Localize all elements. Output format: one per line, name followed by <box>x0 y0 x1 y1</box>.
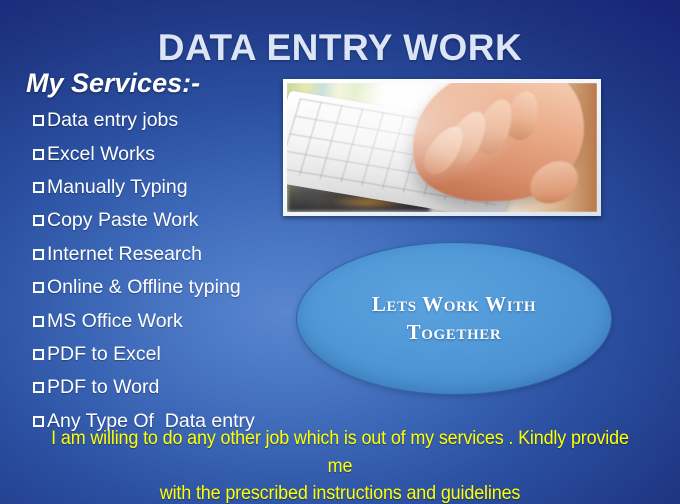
checkbox-square-icon <box>33 182 44 193</box>
services-heading: My Services:- <box>26 68 200 99</box>
checkbox-square-icon <box>33 316 44 327</box>
footer-line-2: with the prescribed instructions and gui… <box>40 480 640 504</box>
checkbox-square-icon <box>33 382 44 393</box>
callout-text: Lets Work With Together <box>332 291 577 346</box>
footer-note: I am willing to do any other job which i… <box>40 425 640 504</box>
keyboard-photo-frame <box>283 79 601 216</box>
list-item-label: Online & Offline typing <box>47 276 241 299</box>
data-entry-work-poster: DATA ENTRY WORK My Services:- Data entry… <box>0 0 680 504</box>
list-item: MS Office Work <box>33 304 301 337</box>
list-item: PDF to Excel <box>33 338 301 371</box>
list-item-label: PDF to Excel <box>47 343 161 366</box>
list-item-label: MS Office Work <box>47 310 183 333</box>
page-title: DATA ENTRY WORK <box>0 27 680 69</box>
checkbox-square-icon <box>33 249 44 260</box>
keyboard-photo <box>287 83 597 212</box>
footer-line-1: I am willing to do any other job which i… <box>40 425 640 480</box>
list-item-label: PDF to Word <box>47 376 159 399</box>
list-item: Copy Paste Work <box>33 204 301 237</box>
list-item-label: Excel Works <box>47 143 155 166</box>
list-item-label: Manually Typing <box>47 176 188 199</box>
list-item: Data entry jobs <box>33 104 301 137</box>
list-item: Manually Typing <box>33 171 301 204</box>
checkbox-square-icon <box>33 349 44 360</box>
list-item: Online & Offline typing <box>33 271 301 304</box>
checkbox-square-icon <box>33 149 44 160</box>
services-list: Data entry jobs Excel Works Manually Typ… <box>33 104 301 438</box>
checkbox-square-icon <box>33 215 44 226</box>
list-item-label: Data entry jobs <box>47 109 178 132</box>
list-item-label: Internet Research <box>47 243 202 266</box>
checkbox-square-icon <box>33 282 44 293</box>
list-item-label: Copy Paste Work <box>47 209 198 232</box>
list-item: Internet Research <box>33 238 301 271</box>
callout-ellipse: Lets Work With Together <box>296 242 612 395</box>
list-item: Excel Works <box>33 137 301 170</box>
checkbox-square-icon <box>33 115 44 126</box>
list-item: PDF to Word <box>33 371 301 404</box>
